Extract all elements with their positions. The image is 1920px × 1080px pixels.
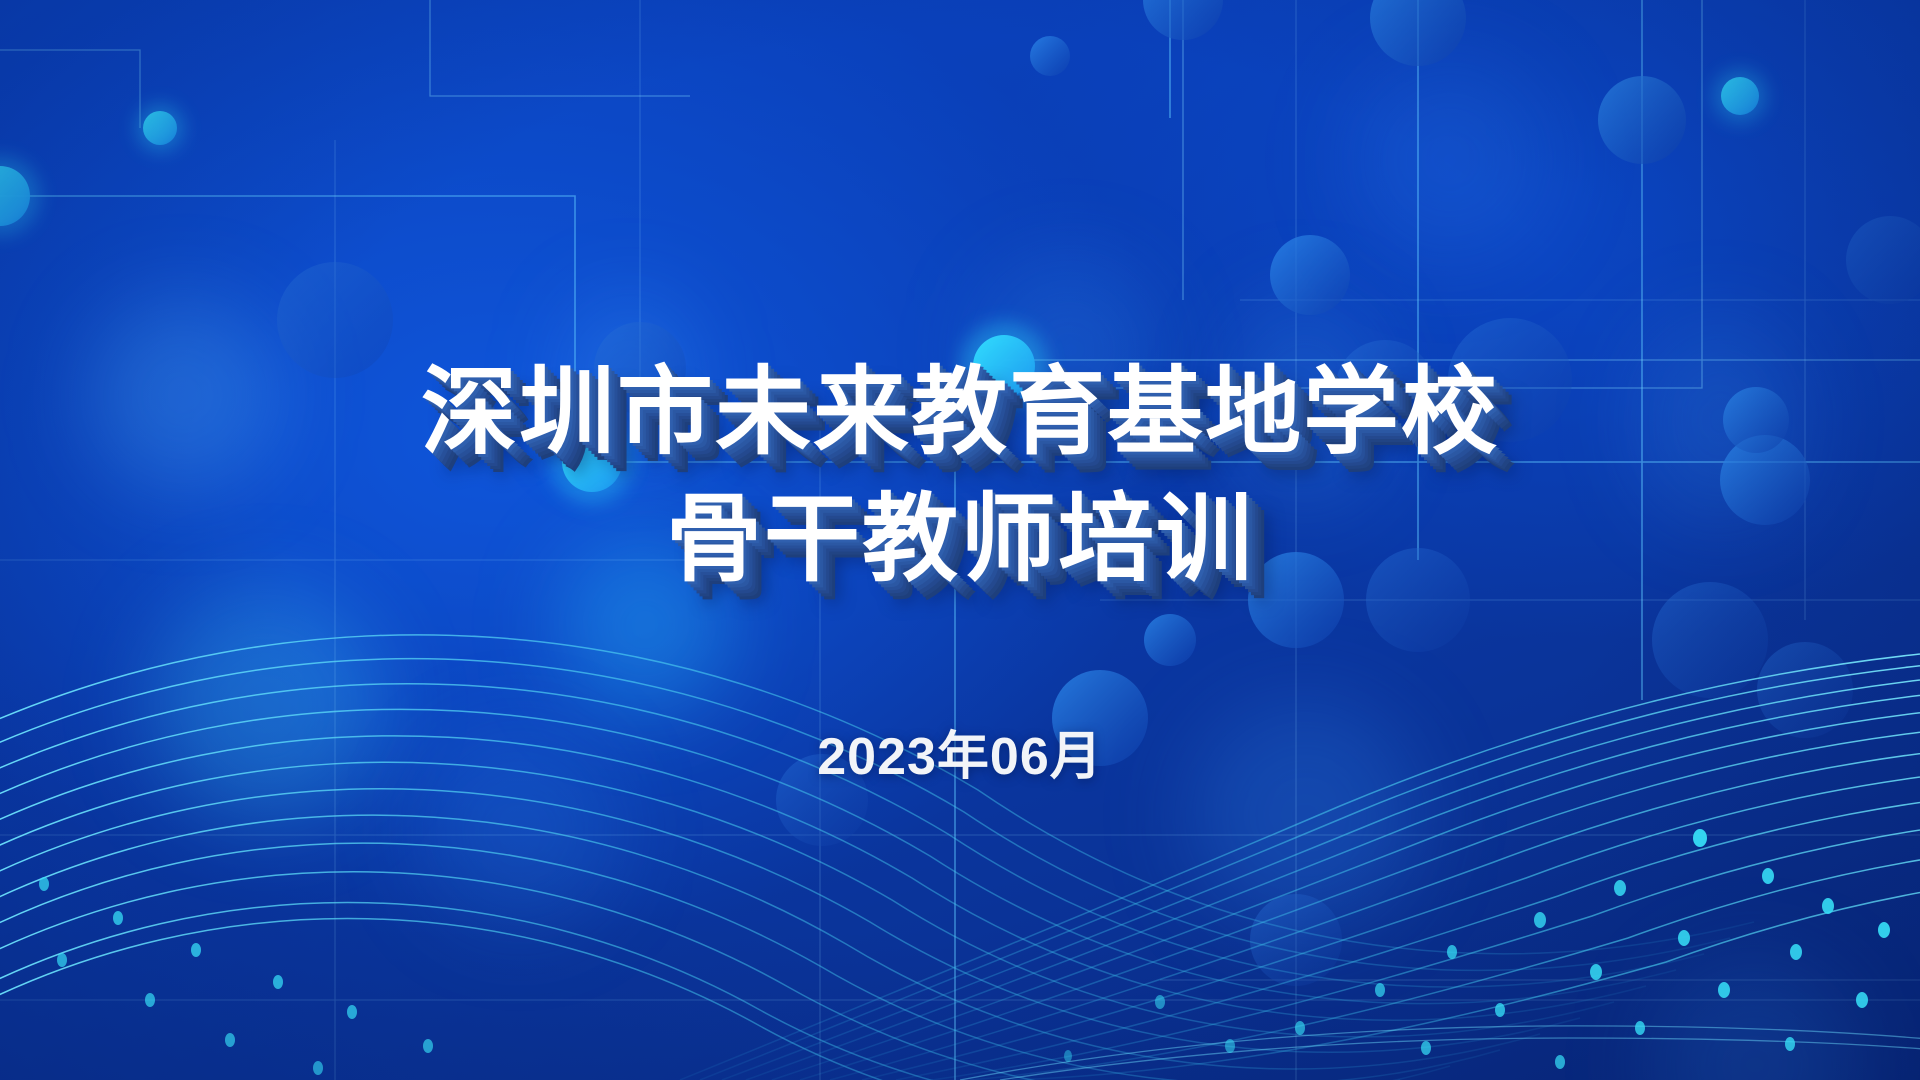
slide-date: 2023年06月 bbox=[0, 714, 1920, 789]
title-block: 深圳市未来教育基地学校 骨干教师培训 2023年06月 bbox=[0, 352, 1920, 789]
title-slide: 深圳市未来教育基地学校 骨干教师培训 2023年06月 bbox=[0, 0, 1920, 1080]
title-line-1: 深圳市未来教育基地学校 bbox=[0, 352, 1920, 475]
title-line-2: 骨干教师培训 bbox=[0, 479, 1920, 602]
